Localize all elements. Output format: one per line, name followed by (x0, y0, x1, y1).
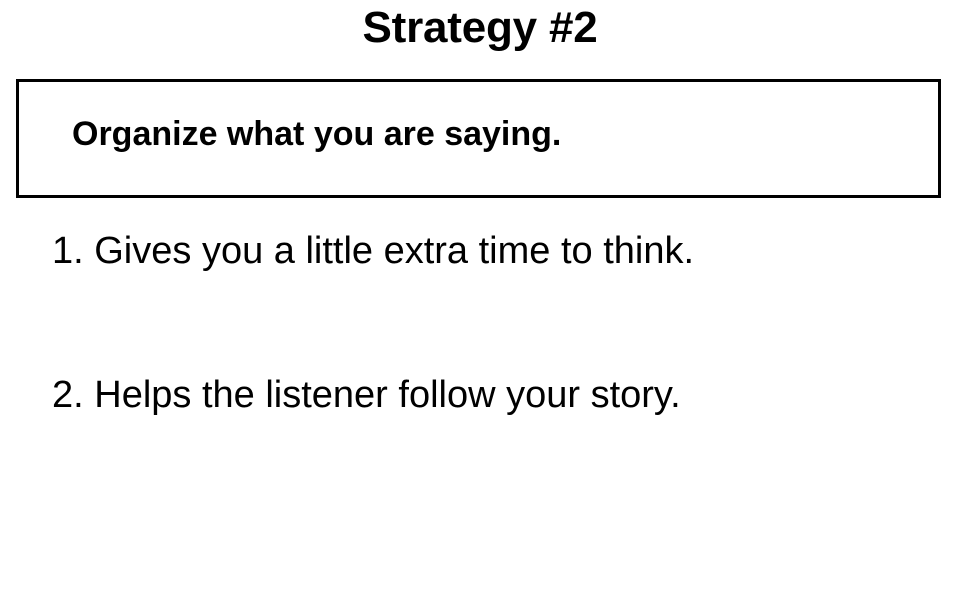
numbered-list: 1. Gives you a little extra time to thin… (52, 228, 932, 418)
callout-box: Organize what you are saying. (16, 79, 941, 198)
list-item: 1. Gives you a little extra time to thin… (52, 228, 932, 274)
slide-canvas: Strategy #2 Organize what you are saying… (0, 0, 960, 600)
callout-text: Organize what you are saying. (72, 112, 561, 156)
list-item: 2. Helps the listener follow your story. (52, 372, 932, 418)
page-title: Strategy #2 (0, 2, 960, 54)
